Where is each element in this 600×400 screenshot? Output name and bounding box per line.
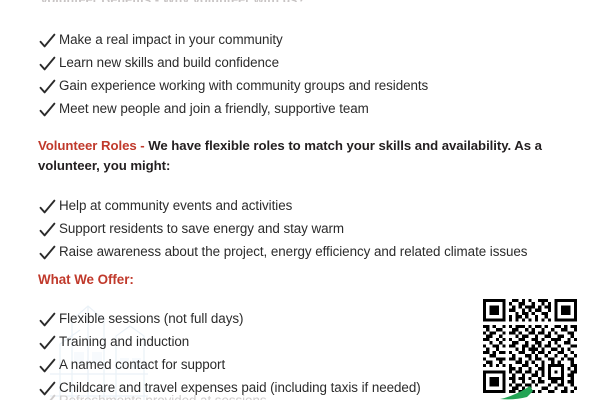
list-item-label: Training and induction xyxy=(59,333,189,351)
volunteer-roles-heading: Volunteer Roles xyxy=(38,138,137,153)
heading-separator: - xyxy=(137,138,149,153)
list-item: Refreshments provided at sessions xyxy=(38,392,468,400)
list-item-label: Make a real impact in your community xyxy=(59,31,283,49)
list-item-label: Refreshments provided at sessions xyxy=(59,392,267,400)
list-item: Make a real impact in your community xyxy=(38,31,568,54)
list-item-label: Meet new people and join a friendly, sup… xyxy=(59,100,369,118)
poster-page: Volunteer Benefits - Why volunteer with … xyxy=(0,0,600,400)
list-item: Meet new people and join a friendly, sup… xyxy=(38,100,568,123)
list-item: Learn new skills and build confidence xyxy=(38,54,568,77)
check-mark-icon xyxy=(38,101,57,119)
volunteer-roles-list: Help at community events and activities … xyxy=(38,197,568,266)
check-mark-icon xyxy=(38,393,57,400)
list-item-label: A named contact for support xyxy=(59,356,225,374)
check-mark-icon xyxy=(38,311,57,329)
check-mark-icon xyxy=(38,78,57,96)
list-item: Help at community events and activities xyxy=(38,197,568,220)
check-mark-icon xyxy=(38,32,57,50)
list-item: Raise awareness about the project, energ… xyxy=(38,243,568,266)
check-mark-icon xyxy=(38,55,57,73)
clipped-top-text: Volunteer Benefits - Why volunteer with … xyxy=(40,0,560,2)
volunteer-roles-paragraph: Volunteer Roles - We have flexible roles… xyxy=(38,136,558,175)
volunteer-benefits-list: Make a real impact in your community Lea… xyxy=(38,31,568,123)
list-item-label: Raise awareness about the project, energ… xyxy=(59,243,527,261)
list-item-label: Help at community events and activities xyxy=(59,197,292,215)
list-item-label: Gain experience working with community g… xyxy=(59,77,428,95)
list-item-label: Learn new skills and build confidence xyxy=(59,54,279,72)
check-mark-icon xyxy=(38,221,57,239)
check-mark-icon xyxy=(38,357,57,375)
check-mark-icon xyxy=(38,198,57,216)
clipped-bottom-row: Refreshments provided at sessions xyxy=(38,392,468,400)
qr-code[interactable] xyxy=(477,299,583,393)
list-item: Gain experience working with community g… xyxy=(38,77,568,100)
list-item-label: Flexible sessions (not full days) xyxy=(59,310,243,328)
check-mark-icon xyxy=(38,334,57,352)
list-item-label: Support residents to save energy and sta… xyxy=(59,220,344,238)
arrow-pointing-up-right-icon xyxy=(497,385,541,400)
check-mark-icon xyxy=(38,244,57,262)
what-we-offer-heading: What We Offer: xyxy=(38,272,134,287)
list-item: Support residents to save energy and sta… xyxy=(38,220,568,243)
